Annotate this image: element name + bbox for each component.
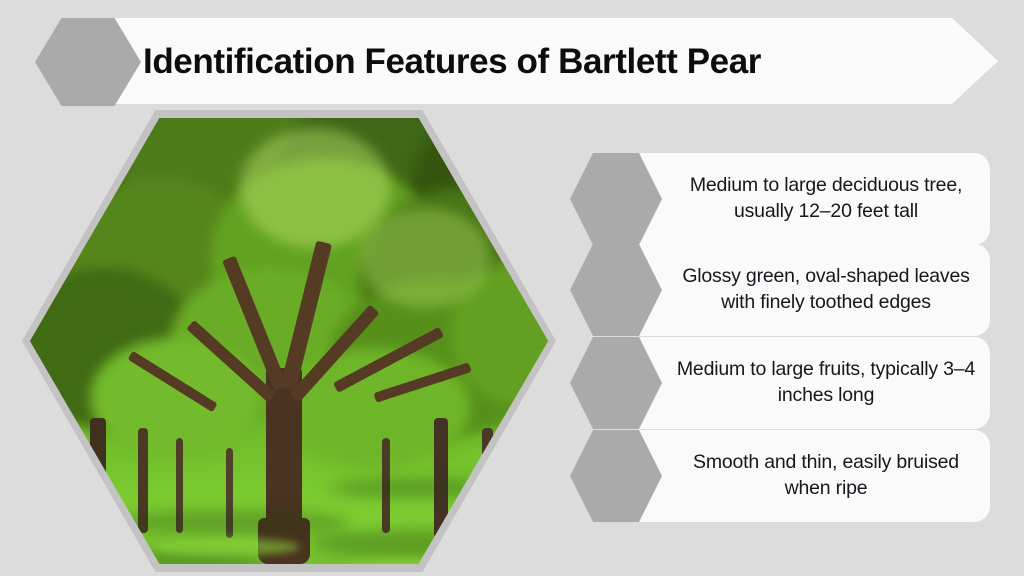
feature-card[interactable]: Smooth and thin, easily bruised when rip… — [570, 430, 990, 522]
feature-card-label: Smooth and thin, easily bruised when rip… — [666, 430, 986, 522]
page-title: Identification Features of Bartlett Pear — [143, 44, 761, 79]
orchard-photo — [30, 118, 548, 564]
title-banner: Identification Features of Bartlett Pear — [88, 18, 998, 104]
feature-card[interactable]: Medium to large deciduous tree, usually … — [570, 153, 990, 245]
feature-card-label: Medium to large fruits, typically 3–4 in… — [666, 337, 986, 429]
orchard-photo-scene — [30, 118, 548, 564]
feature-card[interactable]: Glossy green, oval-shaped leaves with fi… — [570, 244, 990, 336]
feature-card[interactable]: Medium to large fruits, typically 3–4 in… — [570, 337, 990, 429]
feature-card-label: Glossy green, oval-shaped leaves with fi… — [666, 244, 986, 336]
infographic-slide: Identification Features of Bartlett Pear — [0, 0, 1024, 576]
feature-card-label: Medium to large deciduous tree, usually … — [666, 153, 986, 245]
